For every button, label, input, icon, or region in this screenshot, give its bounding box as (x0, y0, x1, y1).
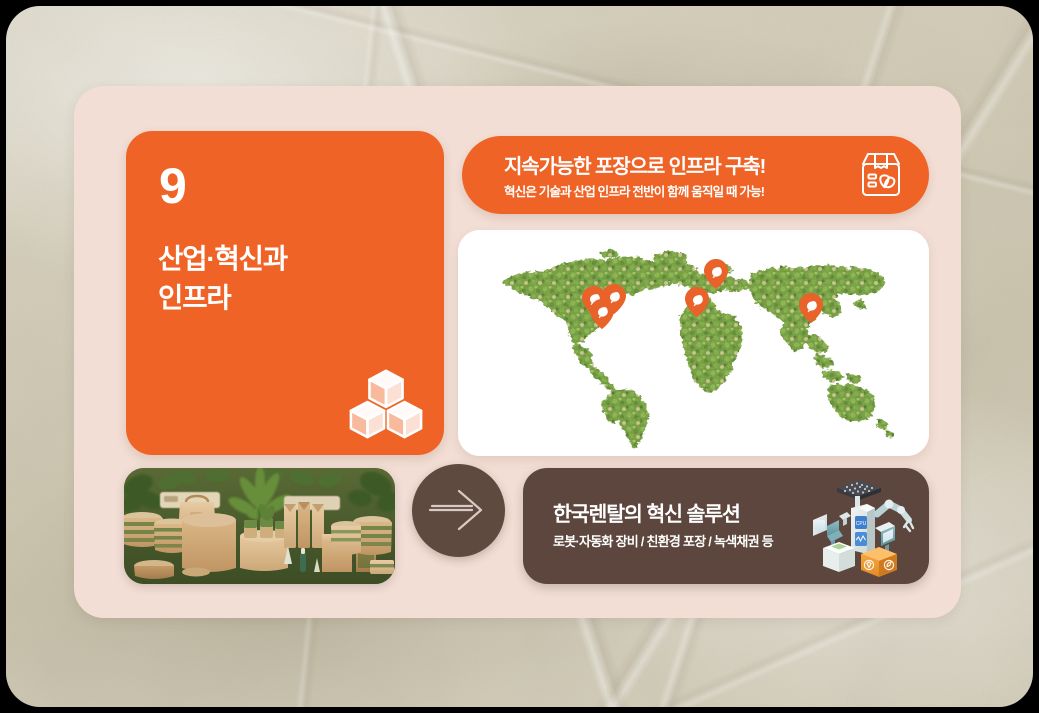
goal-card[interactable]: 9 산업·혁신과 인프라 (126, 131, 444, 455)
robot-automation-isometric-illustration: CPU (805, 474, 921, 578)
infra-banner-headline: 지속가능한 포장으로 인프라 구축! (504, 150, 765, 179)
solution-subline: 로봇·자동화 장비 / 친환경 포장 / 녹색채권 등 (553, 531, 773, 550)
solution-headline: 한국렌탈의 혁신 솔루션 (553, 497, 740, 527)
content-panel: 9 산업·혁신과 인프라 지속가능한 포장으로 인프라 구축! 혁신은 기술과 … (74, 86, 961, 618)
svg-text:CPU: CPU (856, 521, 867, 527)
leaf-map-pin-icon[interactable] (798, 292, 824, 324)
eco-kraft-packaging-photo[interactable] (124, 468, 395, 584)
stacked-cubes-icon (347, 363, 425, 441)
flow-arrow-badge[interactable] (412, 464, 505, 557)
map-card[interactable] (458, 230, 929, 456)
infra-banner-subline: 혁신은 기술과 산업 인프라 전반이 함께 움직일 때 가능! (504, 181, 764, 200)
eco-packaging-illustration (124, 468, 395, 584)
leaf-map-pin-icon[interactable] (684, 286, 710, 318)
eco-package-box-icon (855, 149, 907, 201)
goal-title: 산업·혁신과 인프라 (158, 239, 408, 317)
solution-bar[interactable]: 한국렌탈의 혁신 솔루션 로봇·자동화 장비 / 친환경 포장 / 녹색채권 등 (523, 468, 929, 584)
goal-number: 9 (159, 161, 186, 211)
leaf-map-pin-icon[interactable] (589, 298, 615, 330)
paper-background: 9 산업·혁신과 인프라 지속가능한 포장으로 인프라 구축! 혁신은 기술과 … (6, 6, 1033, 707)
infra-banner[interactable]: 지속가능한 포장으로 인프라 구축! 혁신은 기술과 산업 인프라 전반이 함께… (462, 136, 929, 214)
foliage-world-map (458, 230, 929, 456)
arrow-right-icon (428, 485, 490, 535)
